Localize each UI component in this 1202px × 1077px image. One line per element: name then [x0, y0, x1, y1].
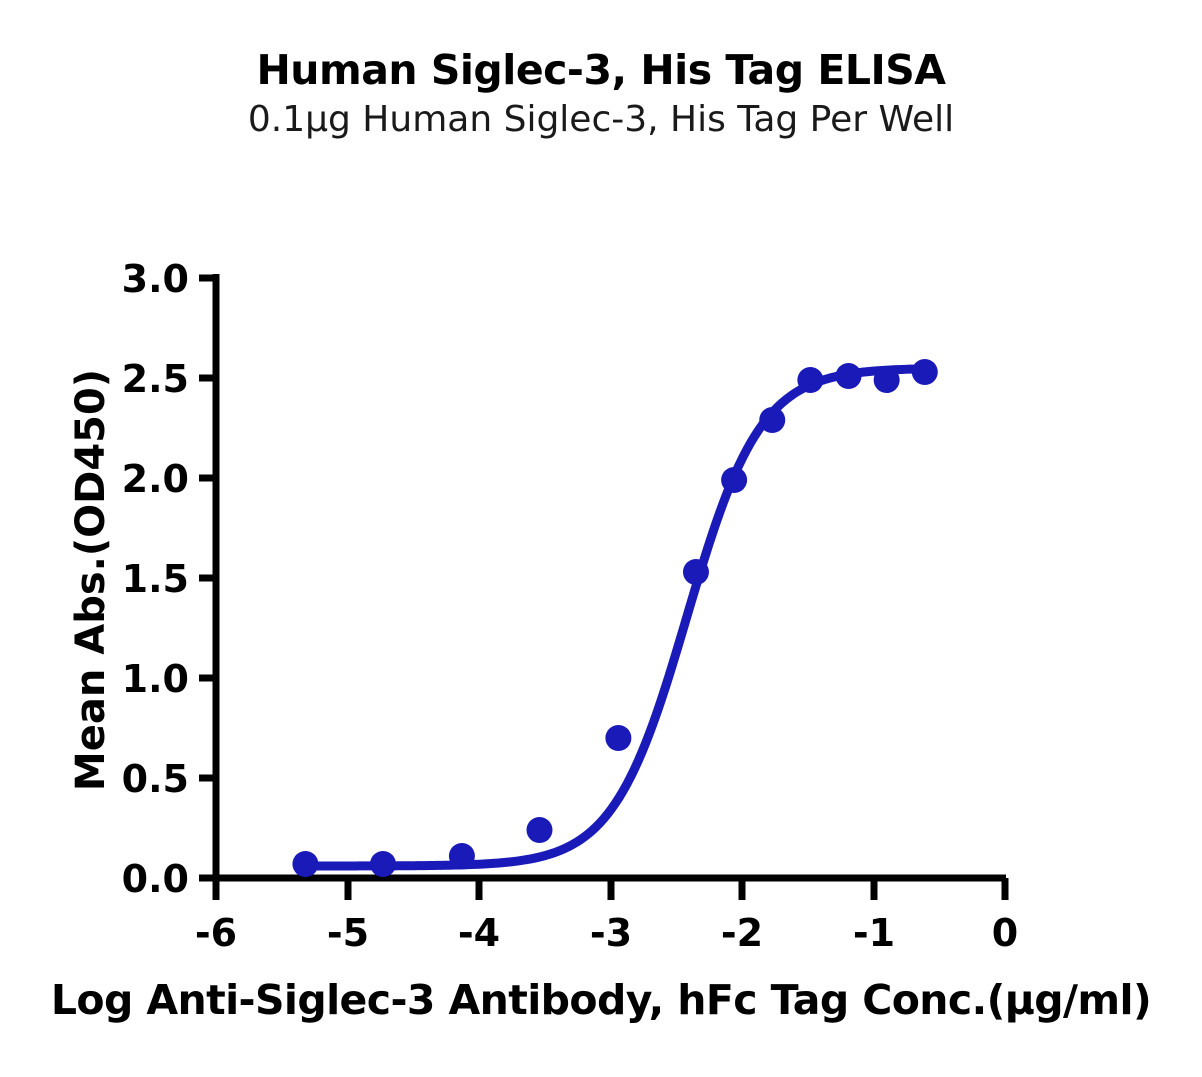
data-point — [912, 359, 938, 385]
x-tick-label-zero: 0 — [992, 911, 1018, 955]
data-point — [721, 467, 747, 493]
data-point — [526, 817, 552, 843]
plot-area: 3.0 2.5 2.0 1.5 1.0 0.5 0.0 -6 -5 -4 -3 … — [0, 0, 1202, 1077]
x-tick-labels: -6 -5 -4 -3 -2 -1 0 — [195, 911, 1018, 955]
x-tick-label-minus1: -1 — [853, 911, 895, 955]
x-tick-label-minus5: -5 — [327, 911, 369, 955]
x-tick-label-minus3: -3 — [590, 911, 632, 955]
elisa-chart-figure: Human Siglec-3, His Tag ELISA 0.1μg Huma… — [0, 0, 1202, 1077]
x-tick-label-minus2: -2 — [721, 911, 763, 955]
y-tick-label-1-5: 1.5 — [122, 557, 189, 601]
y-tick-labels: 3.0 2.5 2.0 1.5 1.0 0.5 0.0 — [122, 257, 189, 901]
y-axis-title: Mean Abs.(OD450) — [68, 369, 114, 791]
x-tick-label-minus6: -6 — [195, 911, 237, 955]
data-point — [874, 367, 900, 393]
x-tick-label-minus4: -4 — [458, 911, 500, 955]
y-tick-label-2-0: 2.0 — [122, 457, 189, 501]
data-point — [292, 851, 318, 877]
data-point — [370, 851, 396, 877]
dose-response-curve — [305, 369, 924, 866]
data-point — [759, 407, 785, 433]
x-axis-title: Log Anti-Siglec-3 Antibody, hFc Tag Conc… — [51, 976, 1151, 1024]
y-tick-label-2-5: 2.5 — [122, 357, 189, 401]
y-tick-label-1-0: 1.0 — [122, 657, 189, 701]
y-tick-label-0-5: 0.5 — [122, 757, 189, 801]
y-tick-label-3-0: 3.0 — [122, 257, 189, 301]
y-tick-label-0-0: 0.0 — [122, 857, 189, 901]
data-point — [836, 363, 862, 389]
data-point — [683, 559, 709, 585]
data-point — [605, 725, 631, 751]
data-point — [449, 843, 475, 869]
data-point — [797, 367, 823, 393]
